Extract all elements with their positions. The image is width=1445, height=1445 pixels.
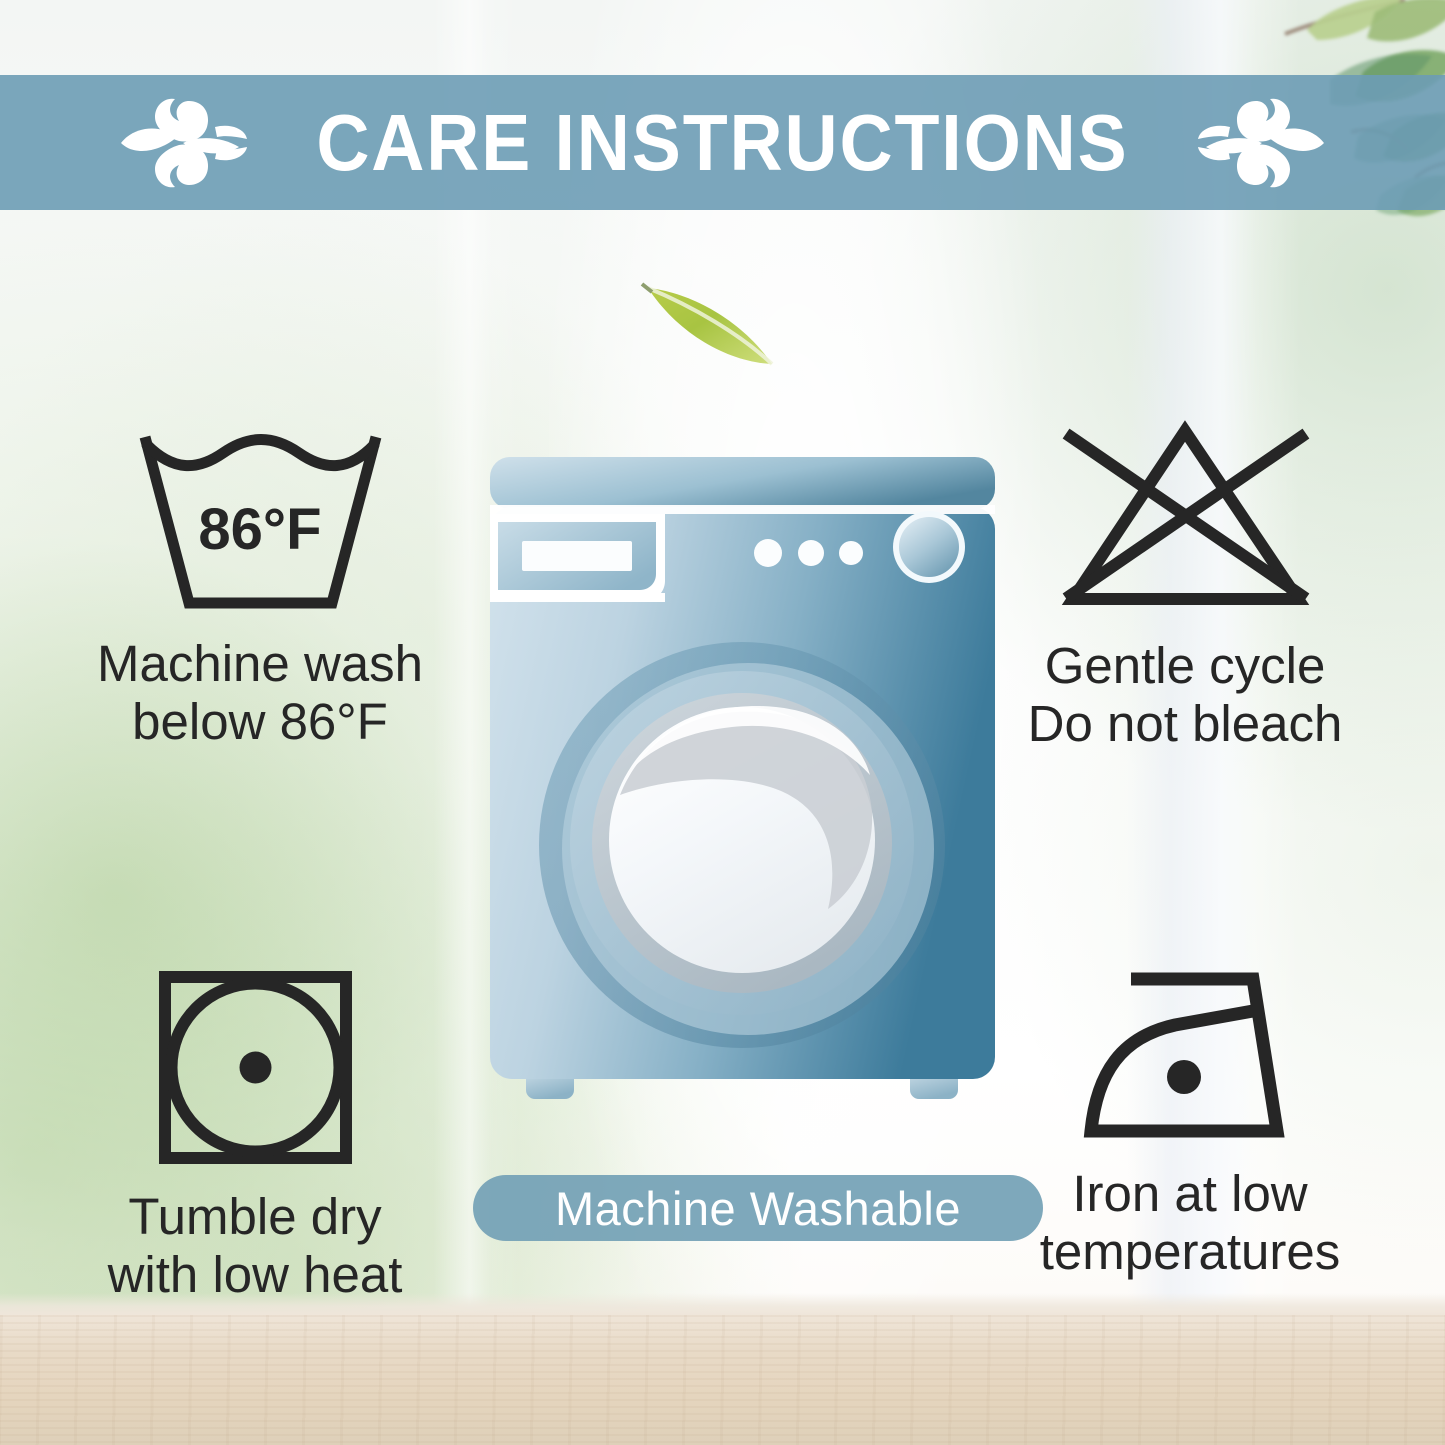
- wood-table-surface: [0, 1315, 1445, 1445]
- fleur-de-lis-icon-right: [1198, 93, 1328, 193]
- care-instructions-infographic: CARE INSTRUCTIONS: [0, 0, 1445, 1445]
- control-knob: [899, 517, 959, 577]
- care-symbol-caption: Tumble dry with low heat: [20, 1188, 490, 1304]
- drawer-bottom-keyline: [490, 593, 665, 602]
- indicator-light: [754, 539, 782, 567]
- caption-line-1: Machine wash: [20, 635, 500, 693]
- badge-label: Machine Washable: [555, 1181, 961, 1236]
- indicator-light: [798, 540, 824, 566]
- washing-machine-illustration: [470, 445, 1015, 1135]
- iron-one-dot-icon: [950, 965, 1430, 1145]
- caption-line-2: with low heat: [20, 1246, 490, 1304]
- caption-line-1: Gentle cycle: [945, 637, 1425, 695]
- care-symbol-tumble-dry: Tumble dry with low heat: [20, 965, 490, 1304]
- wash-tub-icon: 86°F: [20, 425, 500, 615]
- caption-line-1: Tumble dry: [20, 1188, 490, 1246]
- green-leaf-icon: [636, 272, 796, 382]
- tumble-dry-square-icon: [20, 965, 490, 1170]
- crossed-triangle-bleach-icon: [945, 415, 1425, 615]
- heat-level-dot: [239, 1052, 271, 1084]
- indicator-light: [839, 541, 863, 565]
- fleur-de-lis-icon-left: [117, 93, 247, 193]
- detergent-drawer-slot: [522, 541, 632, 571]
- heat-level-dot: [1167, 1060, 1201, 1094]
- caption-line-2: below 86°F: [20, 693, 500, 751]
- header-banner: CARE INSTRUCTIONS: [0, 75, 1445, 210]
- machine-top-lid: [490, 457, 995, 509]
- care-symbol-caption: Gentle cycle Do not bleach: [945, 637, 1425, 753]
- caption-line-2: Do not bleach: [945, 695, 1425, 753]
- care-symbol-machine-wash: 86°F Machine wash below 86°F: [20, 425, 500, 751]
- page-title: CARE INSTRUCTIONS: [316, 103, 1128, 183]
- wash-temperature-value: 86°F: [198, 497, 321, 562]
- care-symbol-do-not-bleach: Gentle cycle Do not bleach: [945, 415, 1425, 753]
- machine-washable-badge: Machine Washable: [473, 1175, 1043, 1241]
- care-symbol-caption: Machine wash below 86°F: [20, 635, 500, 751]
